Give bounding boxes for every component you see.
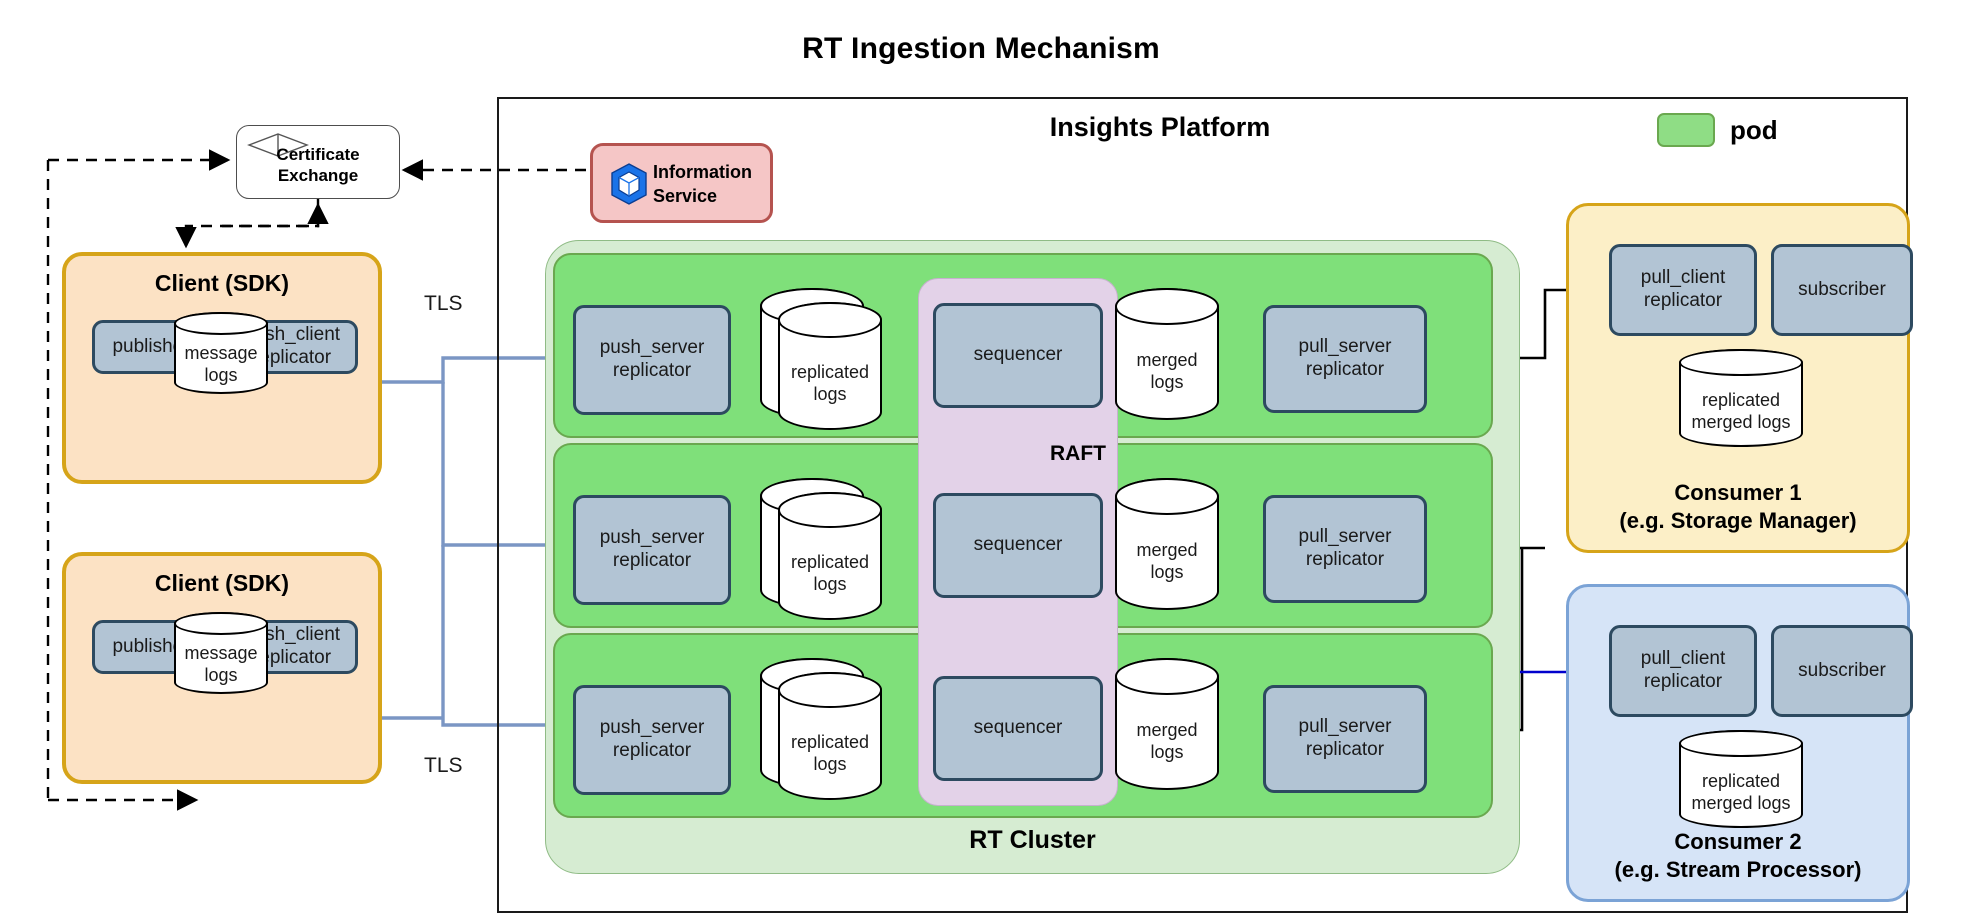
- tls-label-2: TLS: [424, 754, 463, 778]
- consumer-1[interactable]: pull_client replicator subscriber replic…: [1566, 203, 1910, 553]
- pod-1-pull-server-replicator[interactable]: pull_server replicator: [1263, 305, 1427, 413]
- p3-rep-l2: logs: [813, 754, 846, 774]
- p2-push-l2: replicator: [613, 550, 691, 571]
- raft-label: RAFT: [1018, 442, 1138, 466]
- consumer-1-subscriber[interactable]: subscriber: [1771, 244, 1913, 336]
- p2-pull-l1: pull_server: [1299, 526, 1392, 547]
- cs1-store-l1: replicated: [1702, 390, 1780, 410]
- pod-3-replicated-logs: replicated logs: [778, 672, 882, 800]
- information-service-box[interactable]: Information Service: [590, 143, 773, 223]
- p1-push-l1: push_server: [600, 337, 705, 358]
- c1-store-l2: logs: [204, 365, 237, 385]
- cs1-title-l2: (e.g. Storage Manager): [1619, 508, 1856, 533]
- cs2-store-l1: replicated: [1702, 771, 1780, 791]
- p2-rep-l1: replicated: [791, 552, 869, 572]
- tls-label-1: TLS: [424, 292, 463, 316]
- p3-rep-l1: replicated: [791, 732, 869, 752]
- consumer-1-title: Consumer 1 (e.g. Storage Manager): [1569, 479, 1907, 536]
- consumer-2-replicated-merged-logs: replicated merged logs: [1679, 730, 1803, 828]
- sequencer-1-label: sequencer: [974, 344, 1063, 367]
- consumer-1-replicated-merged-logs: replicated merged logs: [1679, 349, 1803, 447]
- certificate-exchange-box[interactable]: Certificate Exchange: [236, 125, 400, 199]
- p2-mer-l2: logs: [1150, 562, 1183, 582]
- client-1-message-logs: message logs: [174, 312, 268, 394]
- cs2-sub-label: subscriber: [1798, 660, 1886, 683]
- cs1-pc-l1: pull_client: [1641, 267, 1726, 288]
- p1-pull-l1: pull_server: [1299, 336, 1392, 357]
- consumer-1-pull-client-replicator[interactable]: pull_client replicator: [1609, 244, 1757, 336]
- blue-cube-icon: [609, 162, 649, 206]
- c2-store-l1: message: [184, 643, 257, 663]
- pod-2-merged-logs: merged logs: [1115, 478, 1219, 610]
- pod-3-merged-logs: merged logs: [1115, 658, 1219, 790]
- pod-2-pull-server-replicator[interactable]: pull_server replicator: [1263, 495, 1427, 603]
- infosvc-line-2: Service: [653, 186, 717, 206]
- p2-pull-l2: replicator: [1306, 549, 1384, 570]
- cs2-title-l2: (e.g. Stream Processor): [1615, 857, 1862, 882]
- p1-mer-l1: merged: [1136, 350, 1197, 370]
- legend-pod-swatch: [1657, 113, 1715, 147]
- pod-2-push-server-replicator[interactable]: push_server replicator: [573, 495, 731, 605]
- cs2-store-l2: merged logs: [1691, 793, 1790, 813]
- cs2-pc-l1: pull_client: [1641, 648, 1726, 669]
- infosvc-line-1: Information: [653, 162, 752, 182]
- pod-2-replicated-logs: replicated logs: [778, 492, 882, 620]
- client-2-title: Client (SDK): [66, 570, 378, 597]
- p1-pull-l2: replicator: [1306, 359, 1384, 380]
- cs1-store-l2: merged logs: [1691, 412, 1790, 432]
- cs1-title-l1: Consumer 1: [1674, 480, 1801, 505]
- legend-pod-label: pod: [1730, 113, 1850, 147]
- insights-platform-title: Insights Platform: [960, 112, 1360, 143]
- sequencer-1[interactable]: sequencer: [933, 303, 1103, 408]
- p2-push-l1: push_server: [600, 527, 705, 548]
- consumer-2-subscriber[interactable]: subscriber: [1771, 625, 1913, 717]
- certificate-exchange-label: Certificate Exchange: [237, 144, 399, 187]
- pod-1-merged-logs: merged logs: [1115, 288, 1219, 420]
- c2-store-l2: logs: [204, 665, 237, 685]
- p3-push-l2: replicator: [613, 740, 691, 761]
- p3-mer-l2: logs: [1150, 742, 1183, 762]
- pod-3-push-server-replicator[interactable]: push_server replicator: [573, 685, 731, 795]
- sequencer-2[interactable]: sequencer: [933, 493, 1103, 598]
- cs2-pc-l2: replicator: [1644, 671, 1722, 692]
- pod-1-push-server-replicator[interactable]: push_server replicator: [573, 305, 731, 415]
- pod-1-replicated-logs: replicated logs: [778, 302, 882, 430]
- cert-line-2: Exchange: [278, 166, 358, 185]
- rt-cluster-label: RT Cluster: [546, 826, 1519, 855]
- cs1-sub-label: subscriber: [1798, 279, 1886, 302]
- sequencer-2-label: sequencer: [974, 534, 1063, 557]
- p2-mer-l1: merged: [1136, 540, 1197, 560]
- client-2-message-logs: message logs: [174, 612, 268, 694]
- diagram-canvas: RT Ingestion Mechanism Insights Platform…: [0, 0, 1962, 914]
- diagram-title: RT Ingestion Mechanism: [0, 32, 1962, 66]
- sequencer-3-label: sequencer: [974, 717, 1063, 740]
- p1-rep-l1: replicated: [791, 362, 869, 382]
- consumer-2[interactable]: pull_client replicator subscriber replic…: [1566, 584, 1910, 902]
- p1-rep-l2: logs: [813, 384, 846, 404]
- client-sdk-2[interactable]: Client (SDK) publisher push_client repli…: [62, 552, 382, 784]
- consumer-2-pull-client-replicator[interactable]: pull_client replicator: [1609, 625, 1757, 717]
- p3-pull-l2: replicator: [1306, 739, 1384, 760]
- sequencer-3[interactable]: sequencer: [933, 676, 1103, 781]
- p1-push-l2: replicator: [613, 360, 691, 381]
- cert-line-1: Certificate: [276, 145, 359, 164]
- p2-rep-l2: logs: [813, 574, 846, 594]
- information-service-label: Information Service: [653, 160, 764, 209]
- client-1-title: Client (SDK): [66, 270, 378, 297]
- p3-mer-l1: merged: [1136, 720, 1197, 740]
- c1-store-l1: message: [184, 343, 257, 363]
- p3-pull-l1: pull_server: [1299, 716, 1392, 737]
- p1-mer-l2: logs: [1150, 372, 1183, 392]
- client-sdk-1[interactable]: Client (SDK) publisher push_client repli…: [62, 252, 382, 484]
- p3-push-l1: push_server: [600, 717, 705, 738]
- cs1-pc-l2: replicator: [1644, 290, 1722, 311]
- pod-3-pull-server-replicator[interactable]: pull_server replicator: [1263, 685, 1427, 793]
